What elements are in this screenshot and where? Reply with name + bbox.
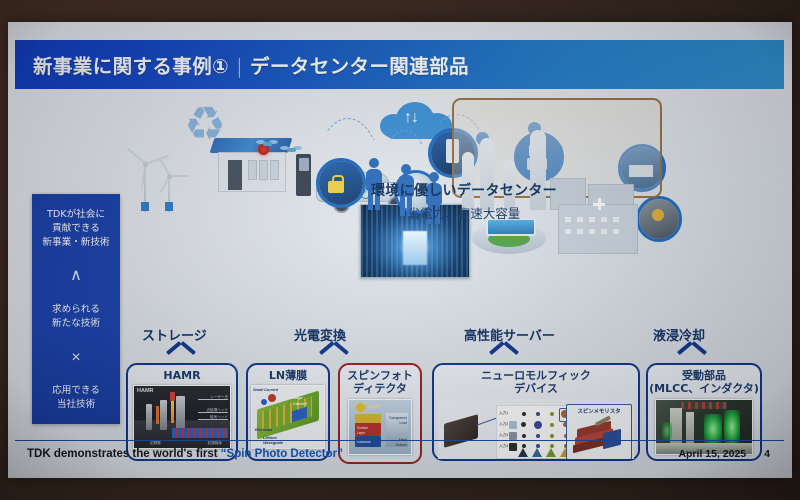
turbine-hub (167, 174, 172, 179)
house-window (248, 160, 257, 180)
hospital-window (589, 229, 595, 234)
input-label-2: 入力2 (499, 422, 508, 427)
tech-box-title: HAMR (163, 369, 200, 382)
crossbar-node (550, 412, 554, 416)
crossbar-node (550, 434, 554, 438)
title-separator: | (236, 55, 243, 78)
sidebar-top-text: TDKが社会に 貢献できる 新事業・新技術 (42, 208, 109, 250)
hamr-callout-head: 磁気ヘッド (210, 415, 228, 420)
light-source-icon (356, 403, 365, 412)
ln-signal-dot (261, 399, 267, 405)
hospital-window (577, 217, 583, 222)
connector-strip (681, 402, 727, 409)
charger-screen (299, 158, 309, 171)
hospital-icon (558, 204, 638, 254)
sidebar-bottom-text: 応用できる 当社技術 (52, 384, 100, 412)
crossbar-node (550, 423, 554, 427)
wind-turbine-icon (158, 150, 180, 212)
caption-sub: 省電力、高速大容量 (364, 203, 564, 222)
tech-box-title: LN薄膜 (269, 369, 307, 382)
person-head (401, 164, 411, 174)
category-label-row: ストレージ 光電変換 高性能サーバー 液浸冷却 (126, 325, 726, 347)
footer-headline: TDK demonstrates the world's first “Spin… (15, 448, 343, 460)
illustration-caption: 環境に優しいデータセンター 省電力、高速大容量 (364, 180, 564, 222)
page-title: 新事業に関する事例①|データセンター関連部品 (15, 50, 469, 79)
slide-footer: TDK demonstrates the world's first “Spin… (15, 440, 784, 466)
spd-label-layer: Layer (357, 431, 365, 435)
hospital-window (613, 229, 619, 234)
input-swatch (509, 432, 517, 440)
title-main: 新事業に関する事例① (33, 55, 229, 78)
input-label-1: 入力1 (499, 411, 508, 416)
tech-box-title: スピンフォト ディテクタ (347, 369, 413, 396)
hospital-window (565, 229, 571, 234)
footer-page-number: 4 (764, 448, 770, 460)
crossbar-node (521, 422, 526, 427)
footer-date: April 15, 2025 (678, 448, 746, 460)
stadium-icon (472, 218, 546, 254)
ln-current-dot (268, 394, 276, 402)
house-window (259, 160, 268, 180)
green-light-glow (724, 410, 740, 444)
hospital-window (601, 217, 607, 222)
upload-download-arrows-icon: ↑↓ (404, 109, 418, 127)
smart-city-illustration (438, 98, 688, 256)
crossbar-node (522, 412, 526, 416)
ev-charger-icon (296, 154, 311, 196)
circle-inner (319, 161, 363, 205)
secure-data-circle-icon (316, 158, 366, 208)
crossbar-node (522, 434, 526, 438)
ln-label-voltage: Voltage (289, 396, 303, 400)
ln-label-control: Control (293, 402, 307, 406)
hospital-window (613, 217, 619, 222)
lock-shackle (332, 175, 344, 185)
drone-body (263, 142, 272, 146)
ln-label-small-current: Small Current (253, 388, 278, 392)
footer-text-highlight: “Spin Photo Detector” (221, 448, 343, 460)
hospital-window (577, 229, 583, 234)
tech-box-title: ニューロモルフィック デバイス (481, 369, 591, 396)
hospital-window (601, 229, 607, 234)
person-head (369, 158, 379, 168)
hospital-cross-icon (593, 198, 605, 210)
sidebar-formula-panel: TDKが社会に 貢献できる 新事業・新技術 ∧ 求められる 新たな技術 × 応用… (32, 194, 120, 424)
green-light-glow (662, 422, 672, 440)
slide: 新事業に関する事例①|データセンター関連部品 (8, 22, 792, 478)
caption-main: 環境に優しいデータセンター (364, 180, 564, 200)
sidebar-middle-text: 求められる 新たな技術 (52, 303, 100, 331)
category-label-cooling: 液浸冷却 (653, 325, 705, 344)
spd-label-transparent: Transparent (389, 416, 407, 420)
input-swatch (509, 421, 517, 429)
hospital-window (589, 217, 595, 222)
house-door (228, 160, 242, 190)
footer-text-before: TDK demonstrates the world's first (27, 448, 221, 460)
footer-meta: April 15, 2025 4 (678, 448, 784, 460)
category-label-server: 高性能サーバー (464, 325, 555, 344)
crossbar-node (534, 421, 542, 429)
hospital-window (565, 217, 571, 222)
drone-body (287, 148, 296, 152)
hamr-pillar (160, 400, 167, 430)
drone-icon (280, 146, 302, 153)
hamr-label: HAMR (137, 388, 154, 394)
hamr-pillar (146, 404, 152, 430)
projected-slide-photo: 新事業に関する事例①|データセンター関連部品 (0, 0, 800, 500)
laser-source-icon (170, 392, 175, 401)
wind-turbine-icon (132, 138, 158, 212)
crossbar-node (536, 434, 540, 438)
hamr-callout-nearfield: 近接場ヘッド (206, 408, 228, 413)
category-label-photoelectric: 光電変換 (294, 325, 346, 344)
spin-memristor-title: スピンメモリスタ (567, 407, 631, 415)
sidebar-operator-multiply: × (71, 350, 80, 366)
drone-icon (256, 140, 278, 147)
callout-connector (476, 417, 497, 425)
server-aisle (403, 231, 427, 265)
solar-house-icon (212, 138, 290, 190)
cross-horizontal (593, 203, 605, 206)
laser-beam (171, 401, 174, 423)
turbine-hub (143, 162, 148, 167)
turbine-base (165, 202, 173, 211)
input-label-3: 入力3 (499, 433, 508, 438)
ln-label-electrode: Electrode (255, 428, 272, 432)
spd-label-surface: Surface (357, 426, 368, 430)
spd-layer-top (355, 414, 381, 423)
hamr-pillar (176, 396, 185, 430)
category-label-storage: ストレージ (142, 325, 207, 344)
crossbar-node (536, 412, 540, 416)
turbine-blade (170, 175, 189, 177)
near-field-element (156, 406, 159, 424)
recording-medium (172, 428, 228, 438)
slide-title-bar: 新事業に関する事例①|データセンター関連部品 (15, 40, 784, 89)
turbine-base (141, 202, 149, 211)
hamr-callout-laser: レーザー光 (210, 395, 228, 400)
spd-label-light: Light (368, 404, 380, 410)
tech-box-title: 受動部品 (MLCC、インダクタ) (649, 369, 759, 396)
title-sub: データセンター関連部品 (250, 55, 469, 78)
spd-label-lead: Lead (399, 421, 407, 425)
house-window (270, 160, 279, 180)
sidebar-operator-caret: ∧ (70, 268, 82, 284)
